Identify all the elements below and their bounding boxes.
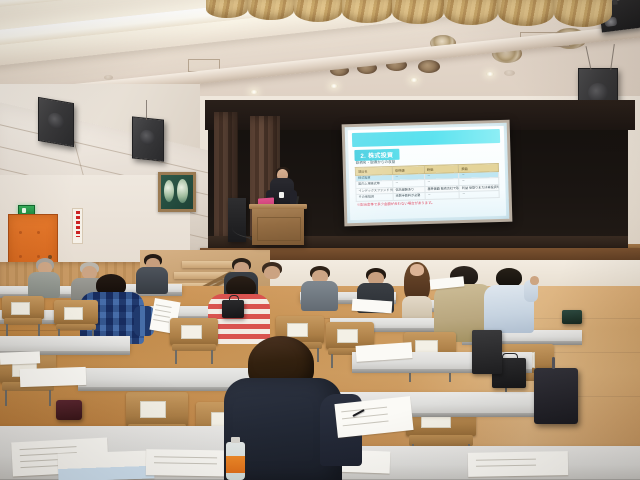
podium	[252, 207, 304, 245]
slide-table: 項目名 取得額 時価 損益 株式投資 － － －	[355, 163, 500, 202]
presenter-badge	[279, 192, 284, 198]
screenshot-root: 2. 株式投資 銘柄名・取得からの収益 項目名 取得額 時価 損益 株式投資	[0, 0, 640, 480]
wall-artwork	[158, 172, 196, 212]
chair[interactable]	[2, 296, 44, 336]
briefcase-2[interactable]	[222, 300, 244, 318]
speaker-icon-left	[38, 97, 74, 147]
slide-header-band	[352, 129, 500, 147]
handout-paper	[20, 367, 87, 387]
av-cart	[472, 330, 502, 374]
slide-content: 2. 株式投資 銘柄名・取得からの収益 項目名 取得額 時価 損益 株式投資	[348, 126, 506, 220]
bag-maroon[interactable]	[56, 400, 82, 420]
bag-green[interactable]	[562, 310, 582, 324]
fire-equipment-sign	[72, 208, 83, 244]
desk	[0, 336, 130, 352]
speaker-icon-left-2	[132, 116, 164, 161]
slide-note: ※配当金等で多少金額が合わない場合があります。	[357, 200, 435, 207]
handout-paper	[0, 351, 40, 364]
projection-screen: 2. 株式投資 銘柄名・取得からの収益 項目名 取得額 時価 損益 株式投資	[342, 120, 513, 227]
rolling-suitcase[interactable]	[534, 368, 578, 424]
handout-paper	[468, 451, 568, 477]
water-bottle[interactable]	[226, 442, 245, 480]
handout-paper	[58, 450, 155, 480]
chair[interactable]	[170, 318, 218, 364]
